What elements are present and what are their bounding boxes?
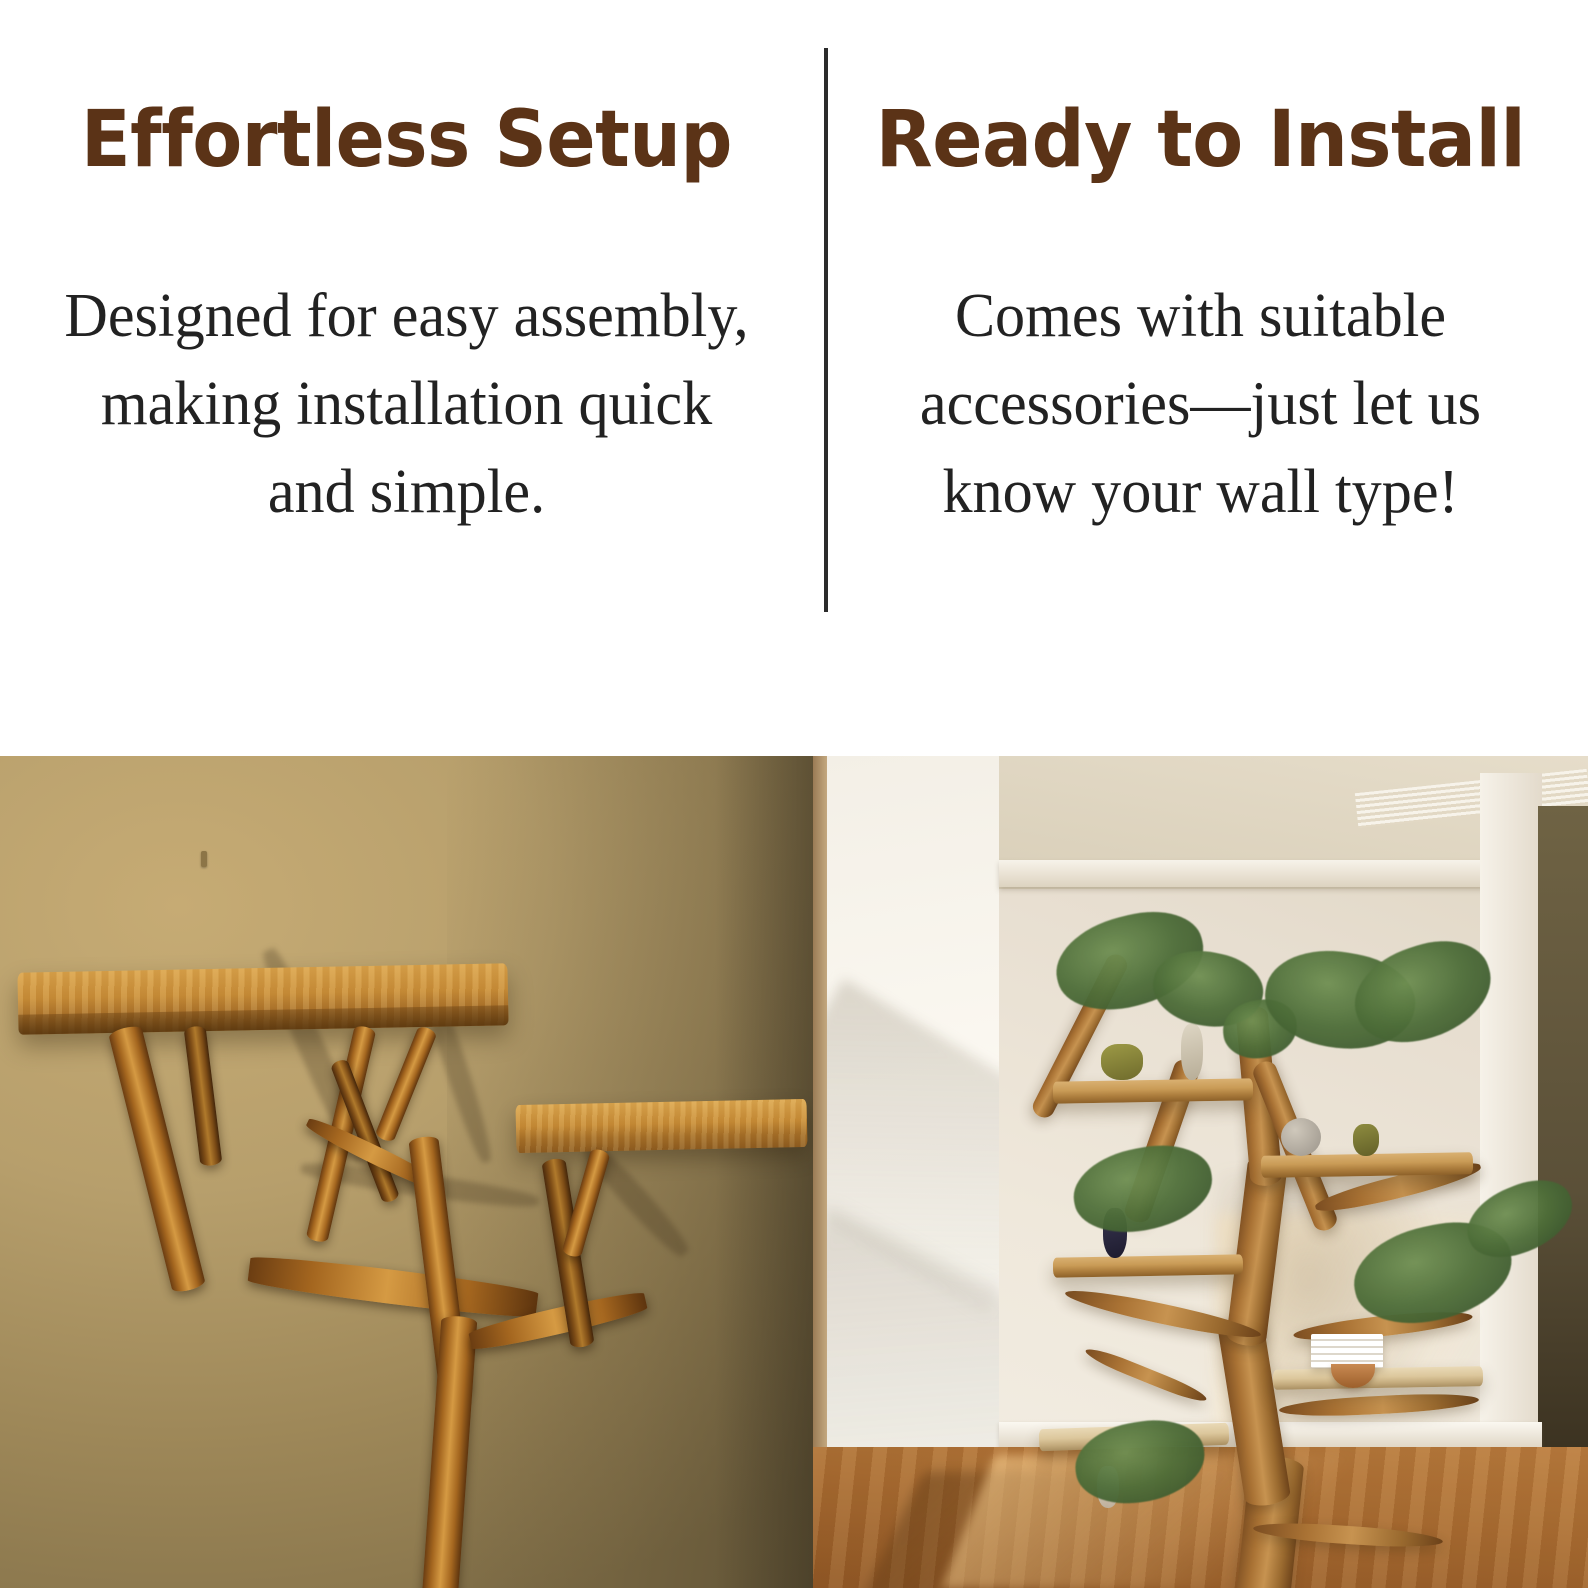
left-panel-heading: Effortless Setup [28,92,784,188]
promo-poster: Effortless Setup Designed for easy assem… [0,0,1588,1588]
upper-wood-shelf [17,963,508,1034]
olive-ceramic-pot [1101,1044,1143,1080]
shelf-top-right [1261,1152,1473,1178]
left-panel-body-text: Designed for easy assembly, making insta… [12,272,801,536]
dark-doorway [1538,806,1588,1505]
shelf-mid-left [1053,1254,1243,1277]
speckled-stone-vase [1281,1118,1321,1156]
shelf-top-left [1053,1078,1253,1103]
text-band: Effortless Setup Designed for easy assem… [0,0,1588,756]
wood-grain [516,1099,808,1153]
left-text-column: Effortless Setup Designed for easy assem… [0,0,813,640]
photo-band [0,756,1588,1588]
lower-wood-shelf [516,1099,808,1153]
left-panel-photo [0,756,813,1588]
right-panel-heading: Ready to Install [832,92,1568,188]
right-text-column: Ready to Install Comes with suitable acc… [813,0,1588,640]
right-panel-photo [813,756,1588,1588]
wall-nail [201,851,207,867]
stacked-books [1311,1334,1383,1368]
small-olive-vase [1353,1124,1379,1156]
wall-corner-shadow [715,756,813,1588]
right-panel-body-text: Comes with suitable accessories—just let… [825,272,1577,536]
shelf-mid-right [1273,1366,1483,1390]
textured-white-vase [1181,1024,1203,1080]
